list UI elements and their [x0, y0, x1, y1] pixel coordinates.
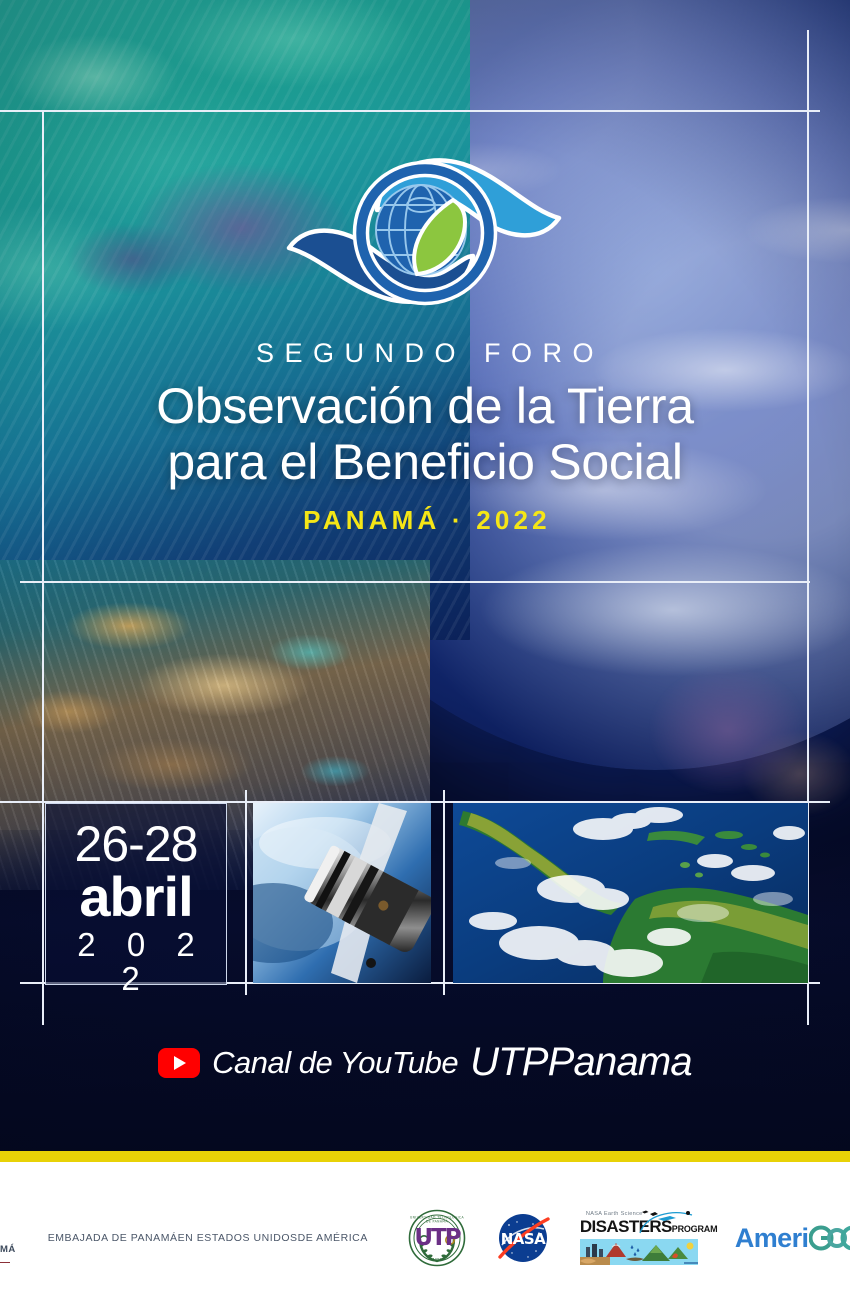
page-title: Observación de la Tierra para el Benefic… — [0, 378, 850, 490]
frame-line-top-horizontal — [0, 110, 820, 112]
youtube-play-icon[interactable] — [158, 1048, 200, 1078]
svg-text:1981: 1981 — [433, 1258, 442, 1262]
embajada-line-3: DE AMÉRICA — [298, 1231, 368, 1246]
svg-text:NASA: NASA — [501, 1230, 546, 1248]
forum-kicker: SEGUNDO FORO — [0, 338, 850, 369]
svg-text:UTP: UTP — [414, 1225, 460, 1251]
yellow-divider-bar — [0, 1151, 850, 1162]
event-month: abril — [46, 868, 226, 926]
satellite-over-earth-photo — [253, 803, 431, 983]
disasters-scene-illustration — [580, 1239, 698, 1265]
frame-line-middle-horizontal — [20, 581, 810, 583]
page-title-line-2: para el Beneficio Social — [0, 434, 850, 490]
youtube-prefix-label: Canal de YouTube — [212, 1045, 458, 1081]
republica-label: REPÚBLICA DE PANAMÁ — [0, 1244, 16, 1255]
youtube-channel-name[interactable]: UTPPanama — [470, 1040, 692, 1085]
frame-line-photo-divider-2 — [443, 790, 445, 995]
frame-line-left-vertical — [42, 110, 44, 1025]
nasa-earth-science-disasters-program-logo: NASA Earth Science DISASTERS PROGRAM — [580, 1209, 705, 1267]
amerigeo-text-ameri: Ameri — [735, 1223, 809, 1254]
embajada-de-panama-logo: EMBAJADA DE PANAMÁ EN ESTADOS UNIDOS DE … — [48, 1231, 368, 1246]
svg-text:DE PANAMÁ: DE PANAMÁ — [426, 1219, 448, 1224]
poster-canvas: SEGUNDO FORO Observación de la Tierra pa… — [0, 0, 850, 1314]
caribbean-central-america-satellite-photo — [453, 803, 808, 983]
forum-emblem — [267, 148, 583, 318]
sponsor-logo-bar: REPÚBLICA DE PANAMÁ GOBIERNO NACIONAL EM… — [0, 1162, 850, 1314]
frame-line-photo-divider — [245, 790, 247, 995]
event-year: 2 0 2 2 — [46, 928, 226, 996]
event-date-range: 26-28 — [46, 818, 226, 870]
gobierno-nacional-label: GOBIERNO NACIONAL — [0, 1259, 10, 1266]
nasa-logo: NASA — [492, 1213, 554, 1263]
utp-universidad-tecnologica-de-panama-seal: UNIVERSIDAD TECNOLÓGICA DE PANAMÁ UTP — [408, 1209, 466, 1267]
location-year-subtitle: PANAMÁ · 2022 — [0, 505, 850, 536]
embajada-line-1: EMBAJADA DE PANAMÁ — [48, 1231, 178, 1246]
republica-de-panama-logo: REPÚBLICA DE PANAMÁ GOBIERNO NACIONAL — [0, 1210, 16, 1266]
page-title-line-1: Observación de la Tierra — [0, 378, 850, 434]
event-date-box: 26-28 abril 2 0 2 2 — [45, 803, 227, 985]
amerigeo-logo: Ameri — [735, 1223, 850, 1254]
embajada-line-2: EN ESTADOS UNIDOS — [178, 1231, 298, 1246]
youtube-channel-row[interactable]: Canal de YouTube UTPPanama — [0, 1040, 850, 1085]
